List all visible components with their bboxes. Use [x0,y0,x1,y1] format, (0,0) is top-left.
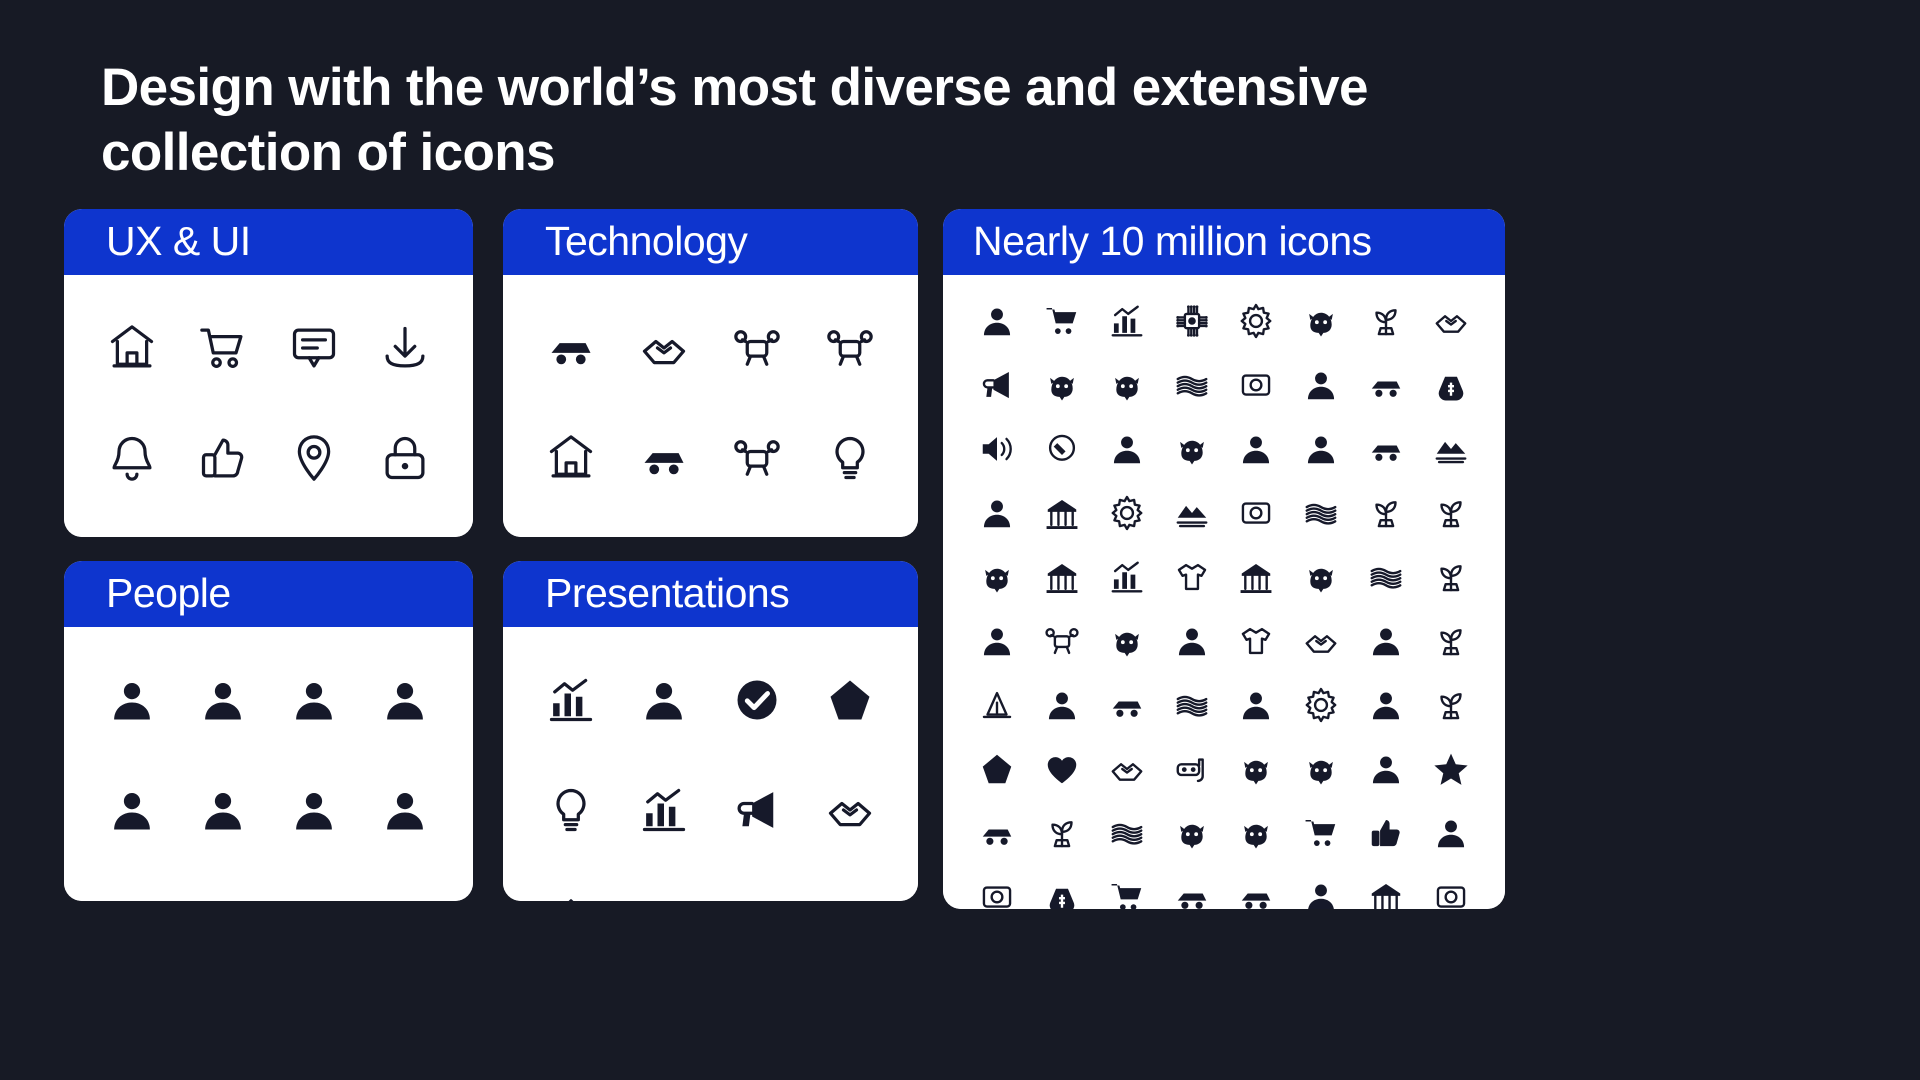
gear-icon[interactable] [1224,289,1289,353]
kitchen-whisk-icon[interactable] [1095,481,1160,545]
utensils-icon[interactable] [1289,673,1354,737]
card-title-technology: Technology [503,209,918,275]
bicycle-icon[interactable] [1354,353,1419,417]
clothes-icon[interactable] [1159,545,1224,609]
comment-bubble-icon[interactable] [269,293,360,403]
atv-quad-icon[interactable] [1095,673,1160,737]
diver-icon[interactable] [1289,865,1354,909]
landscape-night-icon[interactable] [1418,417,1483,481]
libra-scales-icon[interactable] [1030,865,1095,909]
lock-icon[interactable] [360,403,451,513]
hands-together-icon[interactable] [1095,737,1160,801]
connected-car-icon[interactable] [525,293,618,403]
download-icon[interactable] [360,293,451,403]
woman-glasses-icon[interactable] [269,755,360,865]
share-icon[interactable] [86,513,177,537]
rubber-duck-icon[interactable] [1224,737,1289,801]
icon-grid-people [64,627,473,901]
tshirt-icon[interactable] [1224,609,1289,673]
microwave-icon[interactable] [1224,481,1289,545]
category-card-technology[interactable]: Technology [503,209,918,537]
neural-gear-icon[interactable] [525,513,618,537]
celtic-knot-icon[interactable] [1354,545,1419,609]
vr-user-icon[interactable] [711,513,804,537]
drone-icon[interactable] [711,293,804,403]
man-glasses-icon[interactable] [360,645,451,755]
chef-serving-icon[interactable] [965,481,1030,545]
smiling-face-icon[interactable] [269,645,360,755]
crowd-icon[interactable] [177,755,268,865]
couple-love-icon[interactable] [1095,417,1160,481]
card-title-presentations: Presentations [503,561,918,627]
robot-dog-icon[interactable] [1030,609,1095,673]
smart-home-icon[interactable] [525,403,618,513]
plant-pot-icon[interactable] [1354,481,1419,545]
idea-automation-icon[interactable] [803,403,896,513]
mandala-flower-icon[interactable] [1030,801,1095,865]
card-title-all-icons: Nearly 10 million icons [943,209,1505,275]
barn-shelter-icon[interactable] [1030,481,1095,545]
team-group-icon[interactable] [360,865,451,901]
plant-leaves-icon[interactable] [1418,481,1483,545]
drone-tracking-icon[interactable] [711,403,804,513]
sound-waves-icon[interactable] [1159,353,1224,417]
shopping-cart-filled-icon[interactable] [1030,289,1095,353]
beekeeper-icon[interactable] [1354,673,1419,737]
person-thinking-icon[interactable] [86,755,177,865]
icon-grid-all-icons [943,275,1505,909]
category-card-presentations[interactable]: Presentations [503,561,918,901]
thumbs-up-filled-icon[interactable] [1354,801,1419,865]
gear-icon[interactable] [360,513,451,537]
dreadlocks-head-icon[interactable] [1159,609,1224,673]
money-bag-icon[interactable] [618,865,711,901]
megaphone-icon[interactable] [711,755,804,865]
report-folder-icon[interactable] [618,755,711,865]
play-icon[interactable] [177,513,268,537]
yoga-pose-icon[interactable] [1354,737,1419,801]
smoke-swirl-icon[interactable] [1095,801,1160,865]
bionic-hand-icon[interactable] [618,293,711,403]
card-title-people: People [64,561,473,627]
lightbulb-idea-icon[interactable] [525,755,618,865]
golf-cart-side-icon[interactable] [1095,865,1160,909]
growth-dots-icon[interactable] [1095,545,1160,609]
home-icon[interactable] [86,293,177,403]
storefront-icon[interactable] [803,865,896,901]
unicorn-icon[interactable] [1095,609,1160,673]
trash-icon[interactable] [269,513,360,537]
woman-face-icon[interactable] [86,645,177,755]
speaker-volume-icon[interactable] [965,417,1030,481]
traveler-icon[interactable] [177,865,268,901]
ar-phone-icon[interactable] [803,293,896,403]
doctor-patient-icon[interactable] [1224,673,1289,737]
flower-basket-icon[interactable] [1418,673,1483,737]
robot-dog-icon[interactable] [803,513,896,537]
thumbs-up-icon[interactable] [177,403,268,513]
page-headline: Design with the world’s most diverse and… [101,56,1721,185]
group-hug-icon[interactable] [177,645,268,755]
vr-worker-icon[interactable] [965,289,1030,353]
dreadlocks-profile-icon[interactable] [360,755,451,865]
deer-icon[interactable] [1030,353,1095,417]
helicopter-icon[interactable] [1224,865,1289,909]
rhino-icon[interactable] [1224,801,1289,865]
hand-megaphone-icon[interactable] [965,353,1030,417]
bar-chart-growth-icon[interactable] [525,645,618,755]
airplane-icon[interactable] [1159,865,1224,909]
school-bus-icon[interactable] [965,801,1030,865]
skier-icon[interactable] [1030,673,1095,737]
category-card-all-icons[interactable]: Nearly 10 million icons [943,209,1505,909]
luggage-scan-icon[interactable] [1418,865,1483,909]
cable-car-icon[interactable] [1354,417,1419,481]
headphones-icon[interactable] [1289,417,1354,481]
sphinx-icon[interactable] [965,737,1030,801]
location-pin-icon[interactable] [269,403,360,513]
autonomous-car-icon[interactable] [618,403,711,513]
icon-grid-presentations [503,627,918,901]
star-icon[interactable] [1418,737,1483,801]
hamster-wheel-icon[interactable] [1030,417,1095,481]
tiger-face-icon[interactable] [1095,353,1160,417]
mandala-icon[interactable] [1289,353,1354,417]
vr-headset-person-icon[interactable] [965,609,1030,673]
rocket-launch-icon[interactable] [525,865,618,901]
brain-profile-icon[interactable] [1224,417,1289,481]
bank-dollar-icon[interactable] [1224,545,1289,609]
iot-network-icon[interactable] [618,513,711,537]
camera-icon[interactable] [1224,353,1289,417]
snorkel-mask-icon[interactable] [1159,737,1224,801]
dolphin-icon[interactable] [1289,545,1354,609]
handshake-icon[interactable] [803,755,896,865]
ai-chip-icon[interactable] [1159,289,1224,353]
surprised-face-icon[interactable] [269,865,360,901]
heart-filled-icon[interactable] [1030,737,1095,801]
category-card-ux-ui[interactable]: UX & UI [64,209,473,537]
market-stall-icon[interactable] [1030,545,1095,609]
category-card-people[interactable]: People [64,561,473,901]
parachute-icon[interactable] [1289,481,1354,545]
shopping-cart-icon[interactable] [177,293,268,403]
brain-head-icon[interactable] [86,865,177,901]
mountain-lake-icon[interactable] [1159,481,1224,545]
agave-plant-icon[interactable] [1418,609,1483,673]
fax-machine-icon[interactable] [965,865,1030,909]
arm-wrestle-icon[interactable] [1418,289,1483,353]
tornado-icon[interactable] [1159,673,1224,737]
laptop-analytics-icon[interactable] [1095,289,1160,353]
mammoth-icon[interactable] [1289,289,1354,353]
globe-money-icon[interactable] [1418,353,1483,417]
icon-grid-technology [503,275,918,537]
dragon-icon[interactable] [1159,801,1224,865]
presentation-board-icon[interactable] [803,645,896,755]
penguin-icon[interactable] [965,545,1030,609]
scared-cat-icon[interactable] [1159,417,1224,481]
teamwork-hands-icon[interactable] [618,645,711,755]
potted-plant-icon[interactable] [1354,289,1419,353]
temple-icon[interactable] [1354,865,1419,909]
acrobat-icon[interactable] [1354,609,1419,673]
icon-grid-ux-ui [64,275,473,537]
butterfly-icon[interactable] [1289,737,1354,801]
robotic-arm-icon[interactable] [1289,609,1354,673]
page-root: Design with the world’s most diverse and… [0,0,1920,1080]
bell-icon[interactable] [86,403,177,513]
card-title-ux-ui: UX & UI [64,209,473,275]
golf-cart-icon[interactable] [1289,801,1354,865]
aloe-plant-icon[interactable] [1418,545,1483,609]
magnifier-person-icon[interactable] [1418,801,1483,865]
campfire-tent-icon[interactable] [965,673,1030,737]
audience-group-icon[interactable] [711,865,804,901]
check-circle-icon[interactable] [711,645,804,755]
